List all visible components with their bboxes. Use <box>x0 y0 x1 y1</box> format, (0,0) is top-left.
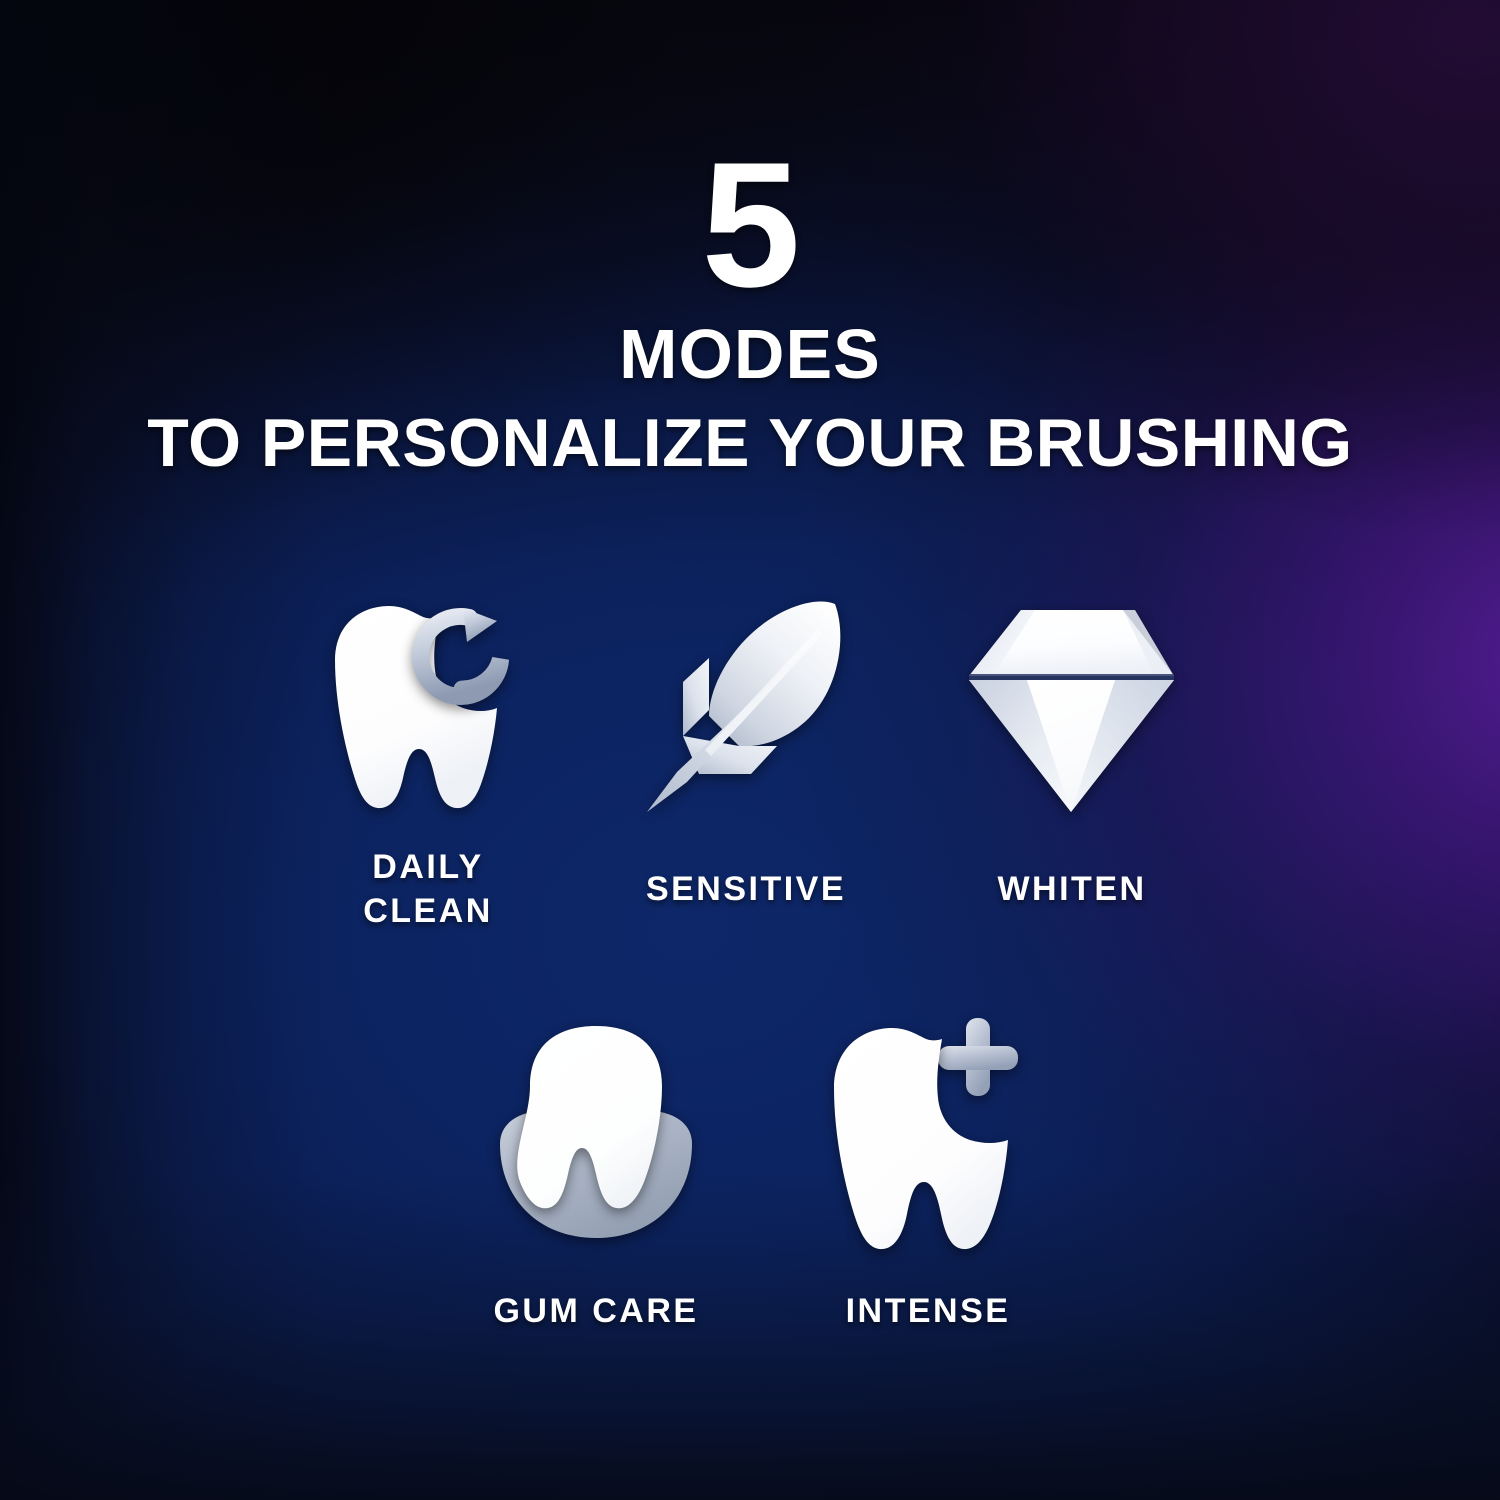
tooth-with-refresh-arrow-icon <box>323 592 533 822</box>
headline-modes: MODES <box>0 319 1500 389</box>
promo-image: 5 MODES TO PERSONALIZE YOUR BRUSHING <box>0 0 1500 1500</box>
mode-gum-care-label: GUM CARE <box>493 1290 698 1334</box>
mode-daily-clean-icon-box <box>323 592 533 822</box>
mode-intense-icon-box <box>818 1010 1038 1260</box>
mode-whiten: WHITEN <box>922 592 1222 912</box>
tooth-with-plus-icon <box>818 1010 1038 1260</box>
mode-sensitive-icon-box <box>641 592 851 822</box>
headline-block: 5 MODES TO PERSONALIZE YOUR BRUSHING <box>0 140 1500 477</box>
mode-daily-clean-label: DAILY CLEAN <box>363 846 493 933</box>
mode-gum-care: GUM CARE <box>446 1010 746 1334</box>
mode-sensitive-label: SENSITIVE <box>646 868 846 912</box>
diamond-icon <box>965 592 1180 822</box>
tooth-with-gum-icon <box>486 1010 706 1260</box>
feather-icon <box>641 592 851 822</box>
headline-number: 5 <box>0 140 1500 309</box>
mode-whiten-icon-box <box>965 592 1180 822</box>
mode-daily-clean: DAILY CLEAN <box>278 592 578 933</box>
mode-intense-label: INTENSE <box>846 1290 1011 1334</box>
mode-gum-care-icon-box <box>486 1010 706 1260</box>
modes-row-top: DAILY CLEAN <box>0 592 1500 933</box>
headline-subtitle: TO PERSONALIZE YOUR BRUSHING <box>0 409 1500 477</box>
mode-whiten-label: WHITEN <box>997 868 1146 912</box>
mode-sensitive: SENSITIVE <box>596 592 896 912</box>
modes-row-bottom: GUM CARE <box>0 1010 1500 1334</box>
mode-intense: INTENSE <box>778 1010 1078 1334</box>
